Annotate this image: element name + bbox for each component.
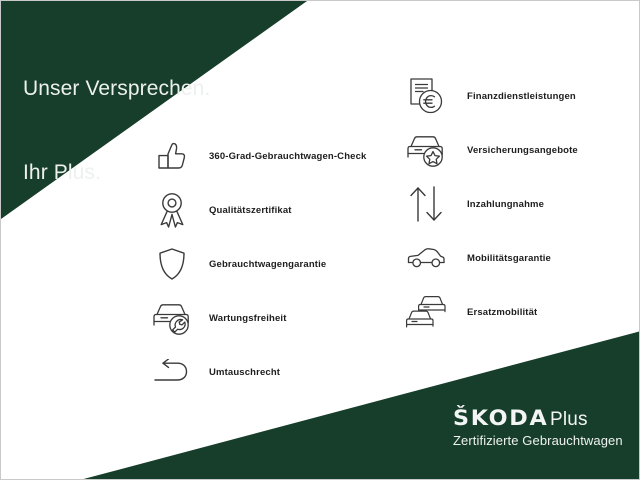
document-euro-icon [403,73,449,119]
feature-label: Mobilitätsgarantie [467,253,551,264]
shield-icon [149,241,195,287]
two-cars-icon [403,289,449,335]
brand-tagline: Zertifizierte Gebrauchtwagen [453,433,623,448]
feature-item: Qualitätszertifikat [149,183,366,237]
feature-item: Versicherungsangebote [403,123,578,177]
feature-item: 360-Grad-Gebrauchtwagen-Check [149,129,366,183]
feature-label: Umtauschrecht [209,367,280,378]
brand-name-row: ŠKODA Plus [453,406,623,431]
brand-suffix: Plus [550,409,588,431]
skoda-wordmark: ŠKODA [453,406,548,430]
arrows-up-down-icon [403,181,449,227]
car-side-icon [403,235,449,281]
headline-line-1: Unser Versprechen. [23,75,210,103]
feature-item: Wartungsfreiheit [149,291,366,345]
feature-list-left: 360-Grad-Gebrauchtwagen-Check Qualitätsz… [149,129,366,399]
u-turn-arrow-icon [149,349,195,395]
feature-label: Qualitätszertifikat [209,205,292,216]
feature-list-right: Finanzdienstleistungen Versicherungsange… [403,69,578,339]
feature-item: Inzahlungnahme [403,177,578,231]
promotional-banner: Unser Versprechen. Ihr Plus. 360-Grad-Ge… [0,0,640,480]
feature-item: Finanzdienstleistungen [403,69,578,123]
feature-label: Inzahlungnahme [467,199,544,210]
feature-label: Finanzdienstleistungen [467,91,576,102]
feature-item: Mobilitätsgarantie [403,231,578,285]
feature-label: 360-Grad-Gebrauchtwagen-Check [209,151,366,162]
brand-lockup: ŠKODA Plus Zertifizierte Gebrauchtwagen [453,406,623,448]
award-rosette-icon [149,187,195,233]
thumbs-up-icon [149,133,195,179]
feature-item: Ersatzmobilität [403,285,578,339]
feature-label: Wartungsfreiheit [209,313,287,324]
feature-label: Versicherungsangebote [467,145,578,156]
feature-label: Ersatzmobilität [467,307,537,318]
car-star-icon [403,127,449,173]
feature-label: Gebrauchtwagengarantie [209,259,326,270]
feature-item: Umtauschrecht [149,345,366,399]
feature-item: Gebrauchtwagengarantie [149,237,366,291]
car-wrench-icon [149,295,195,341]
